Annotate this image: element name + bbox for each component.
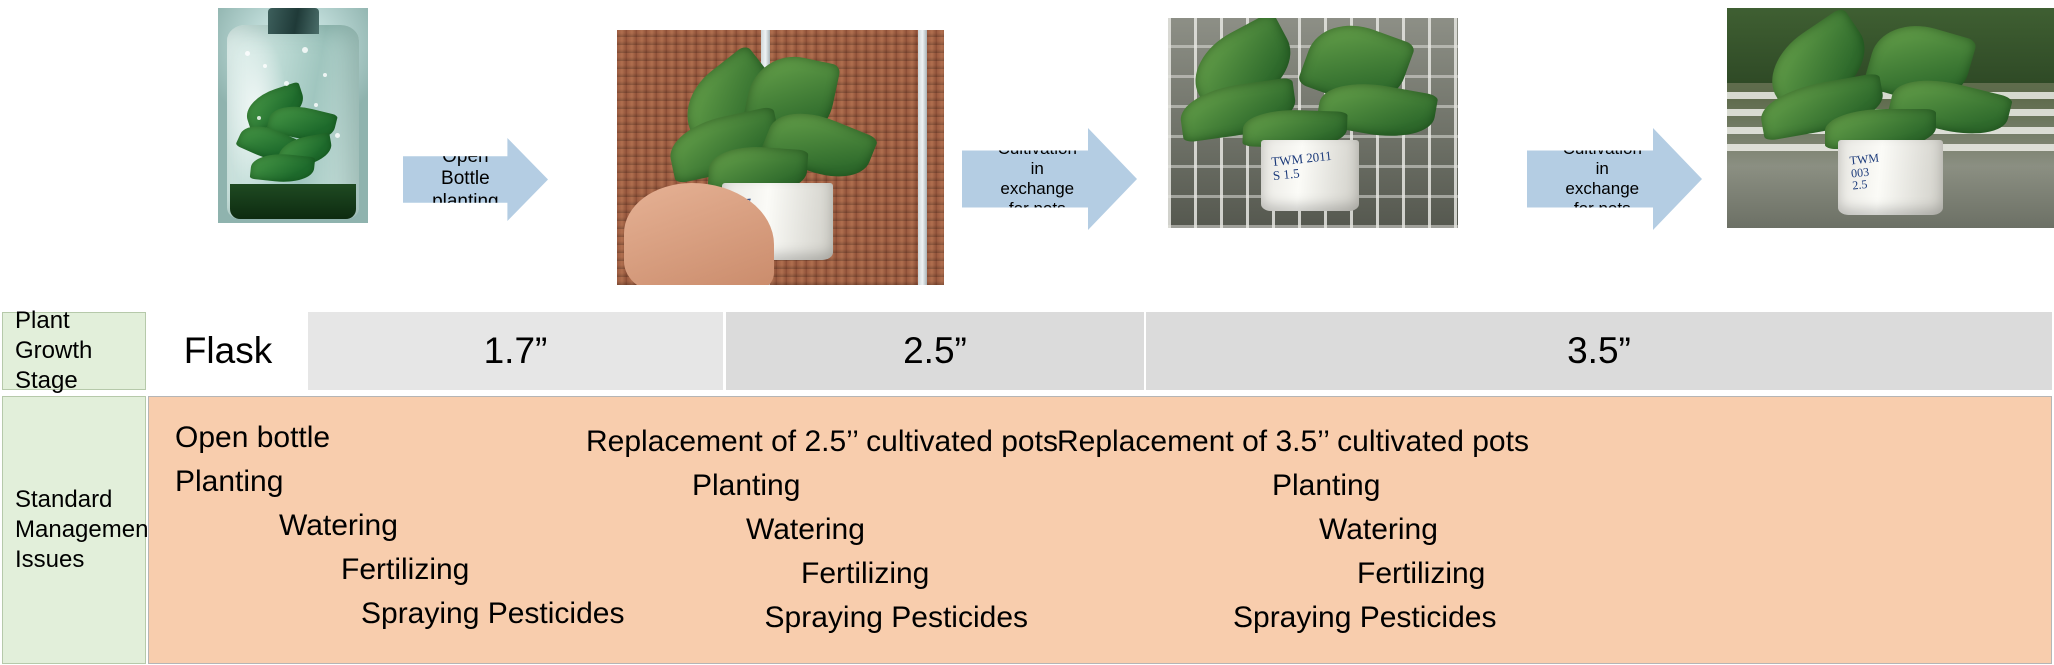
- management-line: Spraying Pesticides: [765, 603, 1028, 633]
- stage-label: 2.5”: [903, 330, 967, 372]
- stage-label: Flask: [184, 330, 272, 372]
- management-line: Watering: [1319, 515, 1438, 545]
- management-line: Replacement of 3.5’’ cultivated pots: [1057, 427, 1529, 457]
- workflow-diagram: Open Bottle planting 1.7 9795 Cultivatio…: [0, 0, 2054, 665]
- management-group-3-5-inch: Replacement of 3.5’’ cultivated pots Pla…: [1057, 397, 1697, 663]
- plant-in-3-5-inch-pot-photo: TWM 003 2.5: [1727, 8, 2054, 228]
- management-line: Spraying Pesticides: [1233, 603, 1496, 633]
- stage-label: 3.5”: [1567, 330, 1631, 372]
- management-line: Fertilizing: [341, 555, 469, 585]
- management-line: Watering: [279, 511, 398, 541]
- stage-cell-flask: Flask: [148, 312, 308, 390]
- arrow-open-bottle-planting: Open Bottle planting: [403, 138, 548, 221]
- management-band: Open bottle Planting Watering Fertilizin…: [148, 396, 2052, 664]
- pot-label-text: TWM 003 2.5: [1849, 152, 1882, 193]
- management-line: Fertilizing: [1357, 559, 1485, 589]
- management-line: Planting: [175, 467, 283, 497]
- row-label-growth-stage: Plant Growth Stage: [2, 312, 146, 390]
- management-line: Spraying Pesticides: [361, 599, 624, 629]
- management-line: Watering: [746, 515, 865, 545]
- process-flow-row: Open Bottle planting 1.7 9795 Cultivatio…: [0, 0, 2054, 310]
- management-row: Standard Management Issues Open bottle P…: [0, 396, 2054, 664]
- arrow-label: Cultivation in exchange for pots: [998, 139, 1102, 219]
- growth-stage-row: Plant Growth Stage Flask 1.7” 2.5” 3.5”: [0, 312, 2054, 390]
- stage-cell-1-7-inch: 1.7”: [308, 312, 723, 390]
- management-line: Fertilizing: [801, 559, 929, 589]
- stage-cell-3-5-inch: 3.5”: [1146, 312, 2052, 390]
- management-line: Open bottle: [175, 423, 330, 453]
- seedling-in-1-7-inch-pot-photo: 1.7 9795: [617, 30, 944, 285]
- management-line: Replacement of 2.5’’ cultivated pots: [586, 427, 1058, 457]
- stage-cell-2-5-inch: 2.5”: [726, 312, 1144, 390]
- flask-with-plantlets-photo: [218, 8, 368, 223]
- plant-in-2-5-inch-pot-photo: TWM 2011 S 1.5: [1168, 18, 1458, 228]
- row-label-management: Standard Management Issues: [2, 396, 146, 664]
- management-line: Planting: [1272, 471, 1380, 501]
- stage-label: 1.7”: [484, 330, 548, 372]
- arrow-label: Cultivation in exchange for pots: [1563, 139, 1667, 219]
- arrow-cultivation-exchange-pots-2: Cultivation in exchange for pots: [1527, 128, 1702, 230]
- arrow-cultivation-exchange-pots-1: Cultivation in exchange for pots: [962, 128, 1137, 230]
- management-line: Planting: [692, 471, 800, 501]
- arrow-label: Open Bottle planting: [432, 146, 519, 213]
